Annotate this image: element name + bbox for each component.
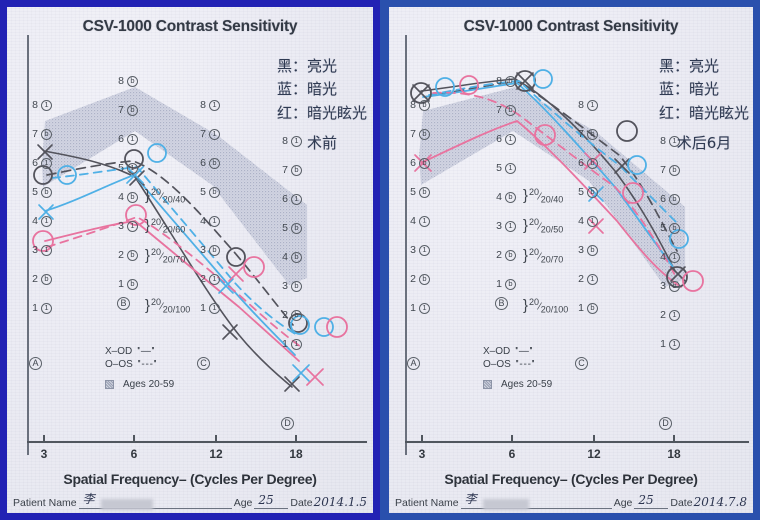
- sensitivity-cell-12-1: 11: [197, 300, 243, 316]
- sensitivity-cell-18-1: 11: [279, 336, 325, 352]
- cell-mark-icon: 1: [505, 134, 516, 145]
- cell-number: 4: [657, 251, 666, 263]
- cell-number: 6: [279, 193, 288, 205]
- cell-number: 7: [279, 164, 288, 176]
- cell-mark-icon: b: [505, 250, 516, 261]
- sensitivity-cell-12-7: 7b: [575, 126, 621, 142]
- x-tick: [133, 435, 135, 443]
- sensitivity-cell-12-6: 6b: [575, 155, 621, 171]
- sensitivity-cell-3-1: 11: [29, 300, 75, 316]
- sensitivity-cell-6-5: 51: [493, 160, 539, 176]
- x-tick: [421, 435, 423, 443]
- cell-mark-icon: 1: [505, 221, 516, 232]
- cell-number: 4: [407, 215, 416, 227]
- patient-footer-preop: Patient Name 李 Age 25 Date 2014.1.5: [13, 495, 367, 509]
- cell-mark-icon: b: [291, 252, 302, 263]
- legend-row-os: O–OS '' - - - '': [483, 358, 552, 371]
- cell-mark-icon: b: [41, 274, 52, 285]
- sensitivity-cell-6-6: 61: [493, 131, 539, 147]
- cell-mark-icon: 1: [419, 303, 430, 314]
- cell-number: 1: [493, 278, 502, 290]
- cell-number: 6: [657, 193, 666, 205]
- x-tick: [215, 435, 217, 443]
- cell-number: 7: [407, 128, 416, 140]
- x-tick-label: 18: [667, 447, 680, 461]
- y-axis-preop: [27, 35, 29, 455]
- cell-number: 2: [29, 273, 38, 285]
- name-redaction: [483, 499, 529, 510]
- cell-mark-icon: b: [209, 187, 220, 198]
- age-value: 25: [638, 493, 653, 507]
- cell-number: 3: [407, 244, 416, 256]
- cell-mark-icon: b: [587, 158, 598, 169]
- y-axis-postop: [405, 35, 407, 455]
- cell-number: 6: [115, 133, 124, 145]
- cell-mark-icon: b: [291, 281, 302, 292]
- cell-number: 5: [407, 186, 416, 198]
- sensitivity-cell-18-5: 5b: [279, 220, 325, 236]
- cell-number: 2: [407, 273, 416, 285]
- sensitivity-cell-18-2: 21: [657, 307, 703, 323]
- date-label: Date: [670, 497, 692, 509]
- cell-number: 2: [197, 273, 206, 285]
- x-tick-label: 12: [209, 447, 222, 461]
- sensitivity-cell-6-1: 1b: [493, 276, 539, 292]
- row-letter-A-preop: A: [29, 357, 42, 370]
- cell-mark-icon: 1: [209, 216, 220, 227]
- age-label: Age: [614, 497, 633, 509]
- sensitivity-cell-6-7: 7b: [115, 102, 161, 118]
- row-letter-A-postop: A: [407, 357, 420, 370]
- cell-mark-icon: b: [419, 158, 430, 169]
- sensitivity-cell-3-6: 6b: [407, 155, 453, 171]
- sensitivity-cell-18-4: 41: [657, 249, 703, 265]
- sensitivity-cell-12-2: 21: [197, 271, 243, 287]
- cell-mark-icon: 1: [127, 221, 138, 232]
- sensitivity-cell-3-6: 61: [29, 155, 75, 171]
- x-tick: [593, 435, 595, 443]
- x-tick-label: 18: [289, 447, 302, 461]
- cell-mark-icon: 1: [669, 339, 680, 350]
- cell-mark-icon: 1: [41, 158, 52, 169]
- legend-preop: X–OD '' — '' O–OS '' - - - '' Ages 20-59: [105, 345, 174, 391]
- sensitivity-cell-12-8: 81: [197, 97, 243, 113]
- cell-number: 1: [657, 338, 666, 350]
- cell-number: 1: [279, 338, 288, 350]
- legend-row-od: X–OD '' — '': [483, 345, 552, 358]
- patient-name-label: Patient Name: [395, 497, 459, 509]
- cell-mark-icon: b: [419, 100, 430, 111]
- sensitivity-cell-18-5: 5b: [657, 220, 703, 236]
- sensitivity-cell-6-1: 1b: [115, 276, 161, 292]
- cell-number: 5: [657, 222, 666, 234]
- cell-mark-icon: 1: [41, 245, 52, 256]
- patient-name-field[interactable]: 李: [461, 498, 612, 509]
- cell-number: 8: [29, 99, 38, 111]
- cell-number: 7: [657, 164, 666, 176]
- cell-mark-icon: b: [669, 194, 680, 205]
- cell-mark-icon: b: [41, 187, 52, 198]
- sensitivity-cell-18-7: 7b: [657, 162, 703, 178]
- sensitivity-cell-12-7: 71: [197, 126, 243, 142]
- cell-mark-icon: 1: [587, 100, 598, 111]
- sensitivity-cell-18-2: 2b: [279, 307, 325, 323]
- age-label: Age: [234, 497, 253, 509]
- cell-mark-icon: b: [127, 76, 138, 87]
- sensitivity-cell-3-5: 5b: [407, 184, 453, 200]
- acuity-label: }20⁄20/60: [145, 217, 185, 234]
- cell-mark-icon: b: [669, 281, 680, 292]
- sensitivity-cell-6-8: 8b: [493, 73, 539, 89]
- cell-mark-icon: b: [669, 165, 680, 176]
- acuity-label: }20⁄20/50: [523, 217, 563, 234]
- cell-number: 1: [407, 302, 416, 314]
- date-value: 2014.1.5: [314, 495, 367, 509]
- cell-number: 6: [197, 157, 206, 169]
- x-tick-label: 12: [587, 447, 600, 461]
- cell-number: 7: [575, 128, 584, 140]
- cell-mark-icon: b: [127, 192, 138, 203]
- cell-number: 8: [197, 99, 206, 111]
- sensitivity-cell-18-6: 61: [279, 191, 325, 207]
- cell-number: 3: [115, 220, 124, 232]
- sensitivity-cell-3-8: 8b: [407, 97, 453, 113]
- sensitivity-cell-18-3: 3b: [279, 278, 325, 294]
- cell-mark-icon: 1: [419, 216, 430, 227]
- cell-mark-icon: 1: [209, 303, 220, 314]
- cell-mark-icon: 1: [41, 303, 52, 314]
- cell-number: 6: [29, 157, 38, 169]
- cell-number: 7: [115, 104, 124, 116]
- cell-mark-icon: b: [291, 165, 302, 176]
- x-tick-label: 6: [131, 447, 138, 461]
- date-value: 2014.7.8: [694, 495, 747, 509]
- cell-mark-icon: b: [127, 105, 138, 116]
- cell-mark-icon: 1: [587, 274, 598, 285]
- legend-row-os: O–OS '' - - - '': [105, 358, 174, 371]
- sensitivity-cell-3-2: 2b: [29, 271, 75, 287]
- cell-mark-icon: b: [587, 129, 598, 140]
- acuity-label: }20⁄20/40: [523, 187, 563, 204]
- cell-mark-icon: 1: [291, 339, 302, 350]
- cell-mark-icon: b: [587, 187, 598, 198]
- page-title-postop: CSV-1000 Contrast Sensitivity: [389, 18, 753, 36]
- cell-number: 6: [407, 157, 416, 169]
- cell-number: 8: [115, 75, 124, 87]
- scanned-csv1000-pair: CSV-1000 Contrast Sensitivity: [0, 0, 760, 520]
- sensitivity-cell-3-8: 81: [29, 97, 75, 113]
- sensitivity-cell-12-2: 21: [575, 271, 621, 287]
- sensitivity-cell-3-5: 5b: [29, 184, 75, 200]
- x-tick-label: 6: [509, 447, 516, 461]
- cell-mark-icon: 1: [587, 216, 598, 227]
- legend-row-od: X–OD '' — '': [105, 345, 174, 358]
- cell-number: 3: [657, 280, 666, 292]
- legend-postop: X–OD '' — '' O–OS '' - - - '' Ages 20-59: [483, 345, 552, 391]
- cell-mark-icon: 1: [209, 274, 220, 285]
- cell-number: 8: [575, 99, 584, 111]
- sensitivity-cell-6-7: 7b: [493, 102, 539, 118]
- patient-name-label: Patient Name: [13, 497, 77, 509]
- cell-number: 5: [575, 186, 584, 198]
- cell-number: 4: [493, 191, 502, 203]
- cell-number: 3: [279, 280, 288, 292]
- acuity-label: }20⁄20/70: [145, 247, 185, 264]
- cell-mark-icon: 1: [669, 310, 680, 321]
- patient-name-value: 李: [465, 490, 477, 507]
- cell-number: 1: [197, 302, 206, 314]
- cell-mark-icon: b: [505, 105, 516, 116]
- cell-mark-icon: b: [587, 303, 598, 314]
- sensitivity-cell-12-4: 41: [575, 213, 621, 229]
- cell-number: 6: [575, 157, 584, 169]
- x-tick-label: 3: [419, 447, 426, 461]
- cell-number: 6: [493, 133, 502, 145]
- cell-mark-icon: b: [587, 245, 598, 256]
- sensitivity-cell-6-6: 61: [115, 131, 161, 147]
- age-field[interactable]: 25: [254, 498, 288, 509]
- sensitivity-cell-12-6: 6b: [197, 155, 243, 171]
- sensitivity-cell-6-8: 8b: [115, 73, 161, 89]
- acuity-label: }20⁄20/40: [145, 187, 185, 204]
- handwritten-annotation-preop: 黑：亮光 蓝：暗光 红：暗光眩光 术前: [277, 55, 367, 155]
- cell-mark-icon: b: [127, 250, 138, 261]
- row-letter-D-postop: D: [659, 417, 672, 430]
- cell-mark-icon: 1: [209, 129, 220, 140]
- cell-number: 8: [407, 99, 416, 111]
- cell-mark-icon: b: [419, 129, 430, 140]
- x-tick: [673, 435, 675, 443]
- sensitivity-cell-3-1: 11: [407, 300, 453, 316]
- cell-mark-icon: b: [127, 279, 138, 290]
- cell-mark-icon: 1: [41, 216, 52, 227]
- legend-row-ages: Ages 20-59: [483, 378, 552, 391]
- x-axis-title-postop: Spatial Frequency– (Cycles Per Degree): [389, 471, 753, 487]
- cell-number: 2: [115, 249, 124, 261]
- sensitivity-cell-18-3: 3b: [657, 278, 703, 294]
- cell-mark-icon: 1: [505, 163, 516, 174]
- sensitivity-cell-3-4: 41: [407, 213, 453, 229]
- cell-number: 2: [493, 249, 502, 261]
- row-letter-C-preop: C: [197, 357, 210, 370]
- acuity-label: }20⁄20/100: [523, 297, 568, 314]
- cell-number: 4: [575, 215, 584, 227]
- cell-number: 4: [115, 191, 124, 203]
- cell-mark-icon: b: [505, 279, 516, 290]
- chart-panel-postop: CSV-1000 Contrast Sensitivity: [380, 0, 760, 520]
- age-field[interactable]: 25: [634, 498, 668, 509]
- cell-number: 5: [493, 162, 502, 174]
- handwritten-annotation-postop: 黑：亮光 蓝：暗光 红：暗光眩光 术后6月: [659, 55, 749, 155]
- cell-number: 5: [29, 186, 38, 198]
- cell-number: 3: [29, 244, 38, 256]
- cell-number: 1: [29, 302, 38, 314]
- cell-number: 3: [197, 244, 206, 256]
- cell-mark-icon: b: [41, 129, 52, 140]
- cell-number: 7: [493, 104, 502, 116]
- acuity-label: }20⁄20/70: [523, 247, 563, 264]
- patient-name-field[interactable]: 李: [79, 498, 232, 509]
- name-redaction: [101, 499, 153, 510]
- sensitivity-cell-18-6: 6b: [657, 191, 703, 207]
- date-label: Date: [290, 497, 312, 509]
- cell-mark-icon: 1: [127, 163, 138, 174]
- patient-footer-postop: Patient Name 李 Age 25 Date 2014.7.8: [395, 495, 747, 509]
- sensitivity-cell-18-1: 11: [657, 336, 703, 352]
- cell-number: 7: [29, 128, 38, 140]
- acuity-label: }20⁄20/100: [145, 297, 190, 314]
- cell-mark-icon: 1: [41, 100, 52, 111]
- sensitivity-cell-12-8: 81: [575, 97, 621, 113]
- cell-mark-icon: 1: [127, 134, 138, 145]
- row-letter-C-postop: C: [575, 357, 588, 370]
- cell-number: 7: [197, 128, 206, 140]
- sensitivity-cell-3-3: 31: [407, 242, 453, 258]
- cell-number: 5: [197, 186, 206, 198]
- x-tick: [511, 435, 513, 443]
- cell-mark-icon: b: [209, 158, 220, 169]
- cell-mark-icon: b: [419, 187, 430, 198]
- sensitivity-cell-3-4: 41: [29, 213, 75, 229]
- sensitivity-cell-6-5: 51: [115, 160, 161, 176]
- cell-mark-icon: 1: [291, 194, 302, 205]
- patient-name-value: 李: [83, 490, 95, 507]
- page-title-preop: CSV-1000 Contrast Sensitivity: [7, 18, 373, 36]
- cell-mark-icon: b: [669, 223, 680, 234]
- sensitivity-cell-12-4: 41: [197, 213, 243, 229]
- cell-mark-icon: b: [505, 76, 516, 87]
- cell-number: 5: [115, 162, 124, 174]
- sensitivity-cell-3-7: 7b: [29, 126, 75, 142]
- cell-number: 1: [575, 302, 584, 314]
- x-axis-preop: [27, 441, 367, 443]
- sensitivity-cell-18-7: 7b: [279, 162, 325, 178]
- cell-number: 3: [575, 244, 584, 256]
- cell-mark-icon: 1: [419, 245, 430, 256]
- legend-row-ages: Ages 20-59: [105, 378, 174, 391]
- cell-number: 8: [493, 75, 502, 87]
- sensitivity-cell-12-1: 1b: [575, 300, 621, 316]
- cell-mark-icon: b: [505, 192, 516, 203]
- cell-number: 2: [575, 273, 584, 285]
- age-value: 25: [258, 493, 273, 507]
- x-tick: [295, 435, 297, 443]
- cell-mark-icon: 1: [209, 100, 220, 111]
- cell-number: 1: [115, 278, 124, 290]
- plot-area-preop: 817b615b41312b11 8b7b61514b312b1b 81716b…: [7, 35, 373, 455]
- cell-number: 5: [279, 222, 288, 234]
- x-axis-postop: [405, 441, 749, 443]
- sensitivity-cell-18-4: 4b: [279, 249, 325, 265]
- row-letter-B-preop: B: [117, 297, 130, 310]
- x-tick-label: 3: [41, 447, 48, 461]
- cell-number: 4: [279, 251, 288, 263]
- x-axis-title-preop: Spatial Frequency– (Cycles Per Degree): [7, 471, 373, 487]
- sensitivity-cell-12-5: 5b: [197, 184, 243, 200]
- cell-mark-icon: b: [291, 310, 302, 321]
- cell-mark-icon: 1: [669, 252, 680, 263]
- cell-mark-icon: b: [419, 274, 430, 285]
- cell-mark-icon: b: [209, 245, 220, 256]
- cell-number: 4: [29, 215, 38, 227]
- cell-number: 3: [493, 220, 502, 232]
- chart-panel-preop: CSV-1000 Contrast Sensitivity: [0, 0, 380, 520]
- sensitivity-cell-3-2: 2b: [407, 271, 453, 287]
- sensitivity-cell-12-5: 5b: [575, 184, 621, 200]
- normal-band-swatch-icon: [105, 380, 114, 389]
- row-letter-D-preop: D: [281, 417, 294, 430]
- sensitivity-cell-12-3: 3b: [197, 242, 243, 258]
- sensitivity-cell-3-7: 7b: [407, 126, 453, 142]
- sensitivity-cell-12-3: 3b: [575, 242, 621, 258]
- row-letter-B-postop: B: [495, 297, 508, 310]
- plot-area-postop: 8b7b6b5b41312b11 8b7b61514b312b1b 817b6b…: [389, 35, 753, 455]
- sensitivity-cell-3-3: 31: [29, 242, 75, 258]
- x-tick: [43, 435, 45, 443]
- cell-number: 2: [279, 309, 288, 321]
- normal-band-swatch-icon: [483, 380, 492, 389]
- cell-mark-icon: b: [291, 223, 302, 234]
- cell-number: 2: [657, 309, 666, 321]
- cell-number: 4: [197, 215, 206, 227]
